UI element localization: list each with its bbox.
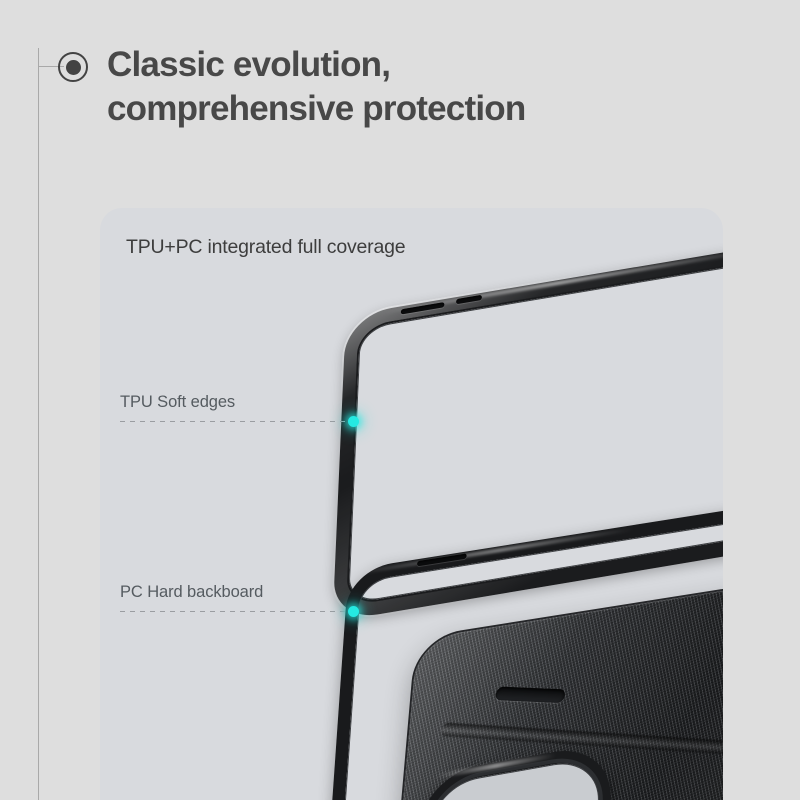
page-title-line1: Classic evolution, xyxy=(107,45,390,84)
callout-label: PC Hard backboard xyxy=(120,583,263,602)
bullet-center-dot-icon xyxy=(66,60,81,75)
callout-leader-line xyxy=(120,611,352,612)
backboard-button-slot xyxy=(494,686,566,703)
callout-leader-line xyxy=(120,421,352,422)
product-feature-image: Classic evolution, comprehensive protect… xyxy=(0,0,800,800)
left-rail-vertical-line xyxy=(38,48,39,800)
callout-label: TPU Soft edges xyxy=(120,393,235,412)
page-title: Classic evolution, comprehensive protect… xyxy=(107,43,747,132)
callout-node-dot-icon xyxy=(348,416,359,427)
page-title-line2: comprehensive protection xyxy=(107,87,747,131)
callout-node-dot-icon xyxy=(348,606,359,617)
product-artwork xyxy=(100,208,723,800)
product-panel: TPU+PC integrated full coverage xyxy=(100,208,723,800)
